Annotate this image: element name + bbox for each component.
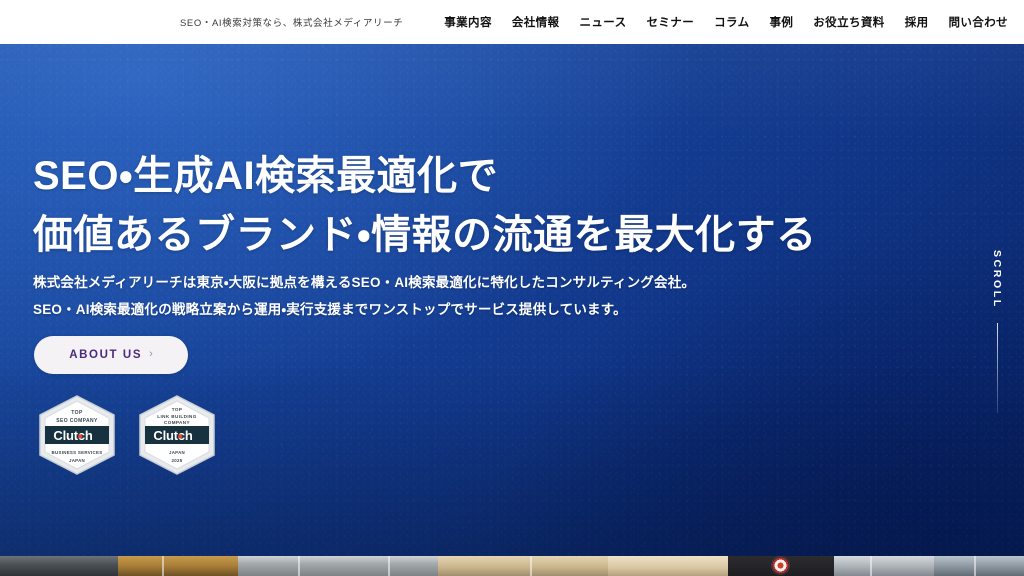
clutch-dot-icon (78, 434, 82, 438)
clutch-top-seo-company-badge[interactable]: TOP SEO COMPANY Clutch BUSINESS SERVICES… (34, 394, 120, 476)
mediareach-logo[interactable] (18, 9, 150, 35)
about-us-button[interactable]: ABOUT US › (34, 336, 188, 374)
clutch-top-link-building-company-badge[interactable]: TOP LINK BUILDING COMPANY Clutch JAPAN 2… (134, 394, 220, 476)
hero-section: SEO・生成AI検索最適化で 価値あるブランド・情報の流通を最大化する 株式会社… (0, 44, 1024, 556)
site-header: SEO・AI検索対策なら、株式会社メディアリーチ 事業内容 会社情報 ニュース … (0, 0, 1024, 44)
hero-headline: SEO・生成AI検索最適化で 価値あるブランド・情報の流通を最大化する (33, 147, 817, 265)
badge-bottom-line-2: 2025 (172, 458, 183, 463)
nav-item-seminar[interactable]: セミナー (637, 10, 705, 34)
scroll-line (997, 323, 998, 413)
badge-brand-name: Clutch (53, 428, 93, 443)
badge-top-line-3: COMPANY (164, 420, 190, 425)
nav-item-services[interactable]: 事業内容 (434, 10, 502, 34)
scroll-label: SCROLL (991, 250, 1003, 309)
photo-cell-7 (934, 556, 1024, 576)
badge-top-line-1: TOP (172, 407, 183, 412)
hero-description: 株式会社メディアリーチは東京・大阪に拠点を構えるSEO・AI検索最適化に特化した… (33, 269, 695, 323)
nav-item-recruit[interactable]: 採用 (895, 10, 939, 34)
award-badges: TOP SEO COMPANY Clutch BUSINESS SERVICES… (34, 394, 220, 476)
nav-item-news[interactable]: ニュース (569, 10, 636, 34)
nav-item-cases[interactable]: 事例 (759, 10, 803, 34)
badge-brand-name: Clutch (153, 428, 193, 443)
chevron-right-icon: › (149, 349, 153, 360)
badge-top-line-2: LINK BUILDING (157, 414, 196, 419)
hero-headline-line-1: SEO・生成AI検索最適化で (33, 147, 817, 206)
page-root: SEO・AI検索対策なら、株式会社メディアリーチ 事業内容 会社情報 ニュース … (0, 0, 1024, 576)
badge-bottom-line-1: JAPAN (169, 450, 185, 455)
photo-cell-4 (438, 556, 608, 576)
badge-top-line-2: SEO COMPANY (56, 418, 98, 424)
hero-headline-line-2: 価値あるブランド・情報の流通を最大化する (33, 206, 817, 265)
badge-top-line-1: TOP (71, 410, 83, 416)
photo-cell-1 (0, 556, 118, 576)
nav-item-contact[interactable]: 問い合わせ (939, 10, 1019, 34)
nav-item-resources[interactable]: お役立ち資料 (803, 10, 894, 34)
photo-cell-6 (834, 556, 934, 576)
dartboard-icon (772, 557, 789, 574)
photo-cell-5 (608, 556, 728, 576)
clutch-dot-icon (178, 434, 182, 438)
photo-cell-dartboard (728, 556, 834, 576)
primary-nav: 事業内容 会社情報 ニュース セミナー コラム 事例 お役立ち資料 採用 問い合… (434, 0, 1018, 44)
scroll-indicator[interactable]: SCROLL (986, 250, 1008, 413)
nav-item-column[interactable]: コラム (704, 10, 759, 34)
office-photo-strip (0, 556, 1024, 576)
photo-cell-3 (238, 556, 438, 576)
photo-cell-2 (118, 556, 238, 576)
nav-item-company[interactable]: 会社情報 (502, 10, 570, 34)
badge-bottom-line-2: JAPAN (69, 458, 85, 463)
header-tagline: SEO・AI検索対策なら、株式会社メディアリーチ (180, 0, 403, 44)
hero-description-line-2: SEO・AI検索最適化の戦略立案から運用・実行支援までワンストップでサービス提供… (33, 296, 695, 323)
hero-description-line-1: 株式会社メディアリーチは東京・大阪に拠点を構えるSEO・AI検索最適化に特化した… (33, 269, 695, 296)
badge-bottom-line-1: BUSINESS SERVICES (52, 450, 103, 455)
about-us-button-label: ABOUT US (69, 349, 142, 361)
